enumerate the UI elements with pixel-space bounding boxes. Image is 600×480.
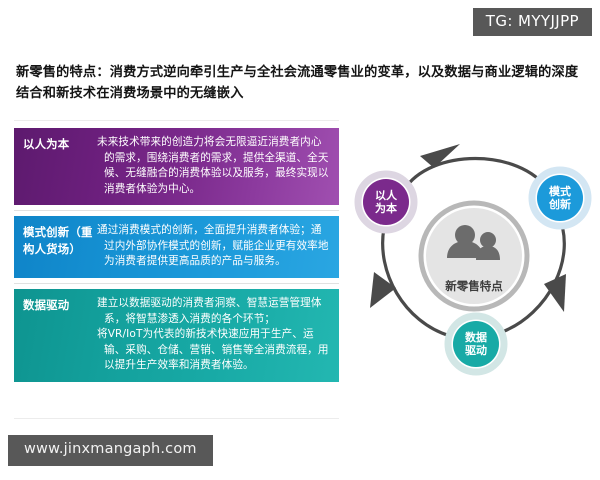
slide-root: TG: MYYJJPP 新零售的特点：消费方式逆向牵引生产与全社会流通零售业的变…: [0, 0, 600, 480]
feature-card-body: 建立以数据驱动的消费者洞察、智慧运营管理体系，将智慧渗透入消费的各个环节； 将V…: [97, 296, 331, 374]
cycle-node-model-innovation: 模式 创新: [532, 170, 588, 226]
tg-badge: TG: MYYJJPP: [473, 8, 592, 36]
cycle-node-label-line1: 模式: [549, 184, 571, 198]
arrow-people-to-model: [404, 144, 548, 190]
feature-card-title: 模式创新（重构人货场）: [23, 223, 97, 270]
cycle-node-label-line1: 以人: [375, 188, 398, 202]
cycle-node-label-line1: 数据: [465, 330, 487, 344]
cycle-diagram: 新零售特点 以人 为本 模式 创新 数据 驱动: [352, 132, 596, 380]
cycle-node-label-line2: 创新: [548, 197, 571, 211]
card-divider: [14, 205, 339, 216]
cycle-node-people-first: 以人 为本: [358, 174, 414, 230]
feature-card-bullet: 未来技术带来的创造力将会无限逼近消费者内心的需求，围绕消费者的需求，提供全渠道、…: [97, 135, 331, 197]
feature-card-title: 数据驱动: [23, 296, 97, 374]
feature-card-title: 以人为本: [23, 135, 97, 197]
page-title: 新零售的特点：消费方式逆向牵引生产与全社会流通零售业的变革，以及数据与商业逻辑的…: [16, 62, 588, 105]
cycle-node-label-line2: 驱动: [465, 343, 487, 357]
diagram-center: 新零售特点: [421, 203, 527, 309]
cards-divider-bottom: [14, 418, 339, 419]
watermark-url: www.jinxmangaph.com: [8, 435, 213, 466]
card-divider: [14, 278, 339, 289]
feature-card-bullet: 通过消费模式的创新，全面提升消费者体验；通过内外部协作模式的创新，赋能企业更有效…: [97, 223, 331, 270]
feature-card-people-first: 以人为本 未来技术带来的创造力将会无限逼近消费者内心的需求，围绕消费者的需求，提…: [14, 128, 339, 205]
feature-card-bullet: 建立以数据驱动的消费者洞察、智慧运营管理体系，将智慧渗透入消费的各个环节；: [97, 296, 331, 327]
feature-card-model-innovation: 模式创新（重构人货场） 通过消费模式的创新，全面提升消费者体验；通过内外部协作模…: [14, 216, 339, 278]
feature-card-data-driven: 数据驱动 建立以数据驱动的消费者洞察、智慧运营管理体系，将智慧渗透入消费的各个环…: [14, 289, 339, 382]
feature-card-body: 通过消费模式的创新，全面提升消费者体验；通过内外部协作模式的创新，赋能企业更有效…: [97, 223, 331, 270]
cycle-node-label-line2: 为本: [375, 201, 397, 215]
feature-card-body: 未来技术带来的创造力将会无限逼近消费者内心的需求，围绕消费者的需求，提供全渠道、…: [97, 135, 331, 197]
cards-divider-top: [14, 120, 339, 121]
cycle-node-data-driven: 数据 驱动: [448, 316, 504, 372]
center-label: 新零售特点: [445, 279, 503, 293]
feature-card-list: 以人为本 未来技术带来的创造力将会无限逼近消费者内心的需求，围绕消费者的需求，提…: [14, 128, 339, 382]
feature-card-bullet: 将VR/IoT为代表的新技术快速应用于生产、运输、采购、仓储、营销、销售等全消费…: [97, 327, 331, 374]
